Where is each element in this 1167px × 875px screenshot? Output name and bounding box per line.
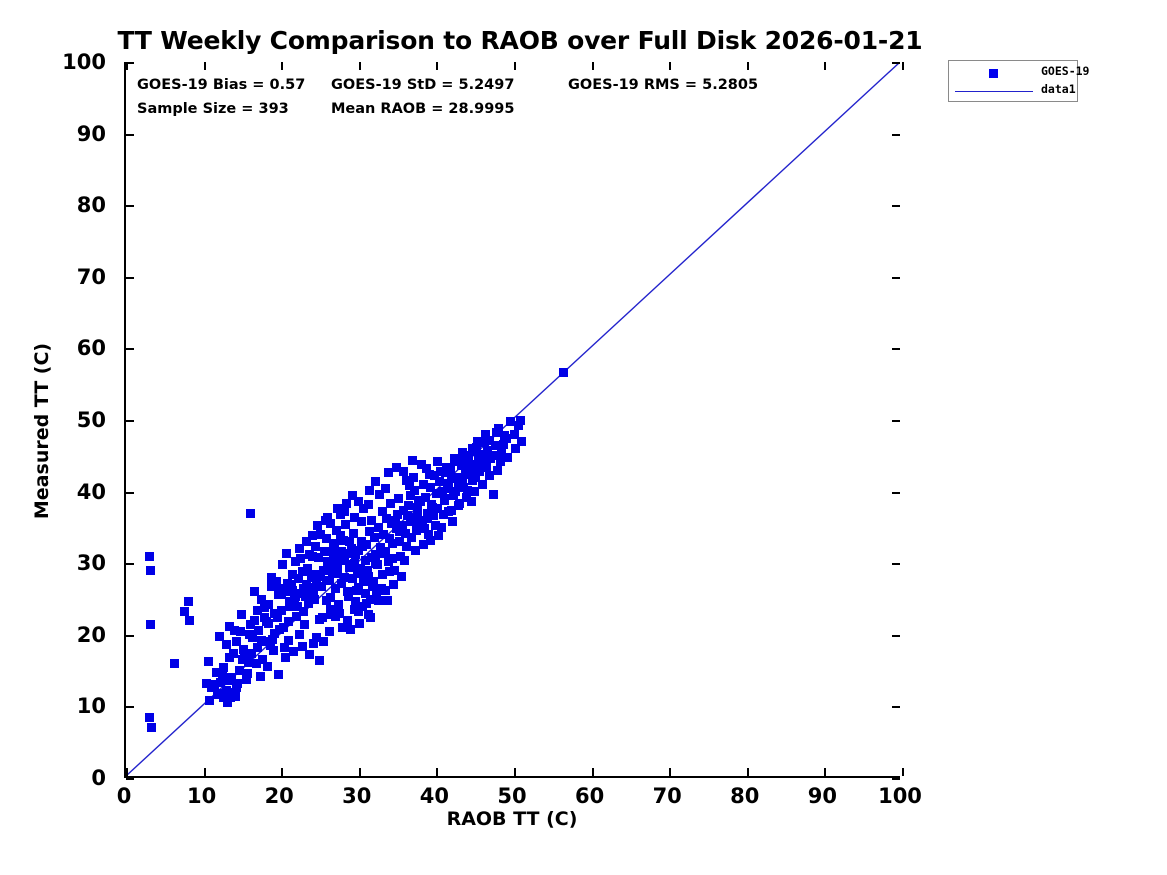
x-tick-label: 70 [653, 784, 682, 808]
data-point [267, 582, 276, 591]
data-point [385, 567, 394, 576]
y-tick-label: 80 [77, 193, 116, 217]
chart-figure: TT Weekly Comparison to RAOB over Full D… [0, 0, 1167, 875]
y-tick [126, 635, 134, 637]
data-point [274, 670, 283, 679]
data-point [333, 569, 342, 578]
data-point [184, 597, 193, 606]
data-point [263, 662, 272, 671]
data-point [295, 630, 304, 639]
x-tick-top [359, 62, 361, 70]
x-tick [669, 768, 671, 776]
data-point [280, 643, 289, 652]
data-point [277, 606, 286, 615]
x-tick-label: 50 [497, 784, 526, 808]
data-point [225, 653, 234, 662]
y-axis-tick-labels: 0102030405060708090100 [0, 62, 116, 778]
legend-entry-goes19[interactable]: GOES-19 [949, 64, 1077, 82]
data-point [403, 511, 412, 520]
data-point [290, 593, 299, 602]
data-point [345, 537, 354, 546]
data-point [493, 466, 502, 475]
data-point [231, 692, 240, 701]
data-point [431, 521, 440, 530]
data-point [464, 458, 473, 467]
x-tick [514, 768, 516, 776]
x-tick-label: 10 [187, 784, 216, 808]
data-point [287, 580, 296, 589]
y-tick-label: 60 [77, 336, 116, 360]
data-point [311, 542, 320, 551]
x-tick-label: 40 [420, 784, 449, 808]
x-tick-top [281, 62, 283, 70]
legend-entry-data1[interactable]: data1 [949, 82, 1077, 100]
data-point [337, 547, 346, 556]
data-point [381, 484, 390, 493]
x-tick [359, 768, 361, 776]
y-tick [126, 563, 134, 565]
data-point [282, 549, 291, 558]
chart-legend[interactable]: GOES-19 data1 [948, 60, 1078, 102]
data-point [170, 659, 179, 668]
data-point [147, 723, 156, 732]
data-point [293, 602, 302, 611]
data-point [319, 637, 328, 646]
data-point [232, 637, 241, 646]
data-point [257, 636, 266, 645]
data-point [318, 613, 327, 622]
data-point [308, 552, 317, 561]
x-tick [592, 768, 594, 776]
data-point [425, 470, 434, 479]
x-tick-top [514, 62, 516, 70]
legend-line-marker-icon [955, 91, 1033, 92]
data-point [256, 672, 265, 681]
x-tick-top [436, 62, 438, 70]
legend-label-data1: data1 [1041, 82, 1076, 96]
data-point [364, 610, 373, 619]
data-point [367, 516, 376, 525]
x-tick-top [669, 62, 671, 70]
data-point [309, 639, 318, 648]
data-point [383, 596, 392, 605]
data-point [413, 509, 422, 518]
data-point [503, 453, 512, 462]
x-tick-top [824, 62, 826, 70]
data-point [394, 494, 403, 503]
data-point [420, 524, 429, 533]
y-tick [126, 134, 134, 136]
data-point [352, 586, 361, 595]
chart-title: TT Weekly Comparison to RAOB over Full D… [0, 26, 1040, 55]
y-tick-right [892, 62, 900, 64]
data-point [399, 467, 408, 476]
data-point [397, 572, 406, 581]
data-point [145, 713, 154, 722]
y-tick [126, 205, 134, 207]
y-tick [126, 492, 134, 494]
data-point [245, 630, 254, 639]
data-point [417, 460, 426, 469]
data-point [388, 554, 397, 563]
data-point [323, 513, 332, 522]
data-point [350, 513, 359, 522]
data-point [409, 473, 418, 482]
data-point [289, 647, 298, 656]
data-point [305, 650, 314, 659]
y-tick-right [892, 563, 900, 565]
data-point [395, 527, 404, 536]
data-point [325, 627, 334, 636]
data-point [298, 567, 307, 576]
data-point [489, 490, 498, 499]
data-point [218, 672, 227, 681]
y-tick [126, 706, 134, 708]
data-point [451, 487, 460, 496]
data-point [434, 531, 443, 540]
y-tick-label: 70 [77, 265, 116, 289]
data-point [307, 573, 316, 582]
y-tick-right [892, 134, 900, 136]
plot-area [124, 62, 900, 778]
data-point [440, 494, 449, 503]
data-point [354, 607, 363, 616]
y-tick-label: 10 [77, 694, 116, 718]
data-point [246, 509, 255, 518]
data-point [331, 612, 340, 621]
data-point [428, 503, 437, 512]
data-point [329, 559, 338, 568]
y-tick-right [892, 348, 900, 350]
x-tick [436, 768, 438, 776]
data-point [278, 560, 287, 569]
y-tick-label: 20 [77, 623, 116, 647]
x-tick-top [902, 62, 904, 70]
y-tick-right [892, 635, 900, 637]
data-point [300, 620, 309, 629]
y-tick-label: 30 [77, 551, 116, 575]
data-point [269, 646, 278, 655]
data-point [454, 501, 463, 510]
x-tick-label: 60 [575, 784, 604, 808]
data-point [146, 620, 155, 629]
data-point [482, 450, 491, 459]
data-point [243, 669, 252, 678]
y-tick-label: 40 [77, 480, 116, 504]
data-point [400, 556, 409, 565]
data-point [185, 616, 194, 625]
data-point [333, 504, 342, 513]
data-point [145, 552, 154, 561]
legend-label-goes19: GOES-19 [1041, 64, 1089, 78]
data-point [378, 507, 387, 516]
data-point [253, 606, 262, 615]
x-tick-top [204, 62, 206, 70]
data-point [442, 463, 451, 472]
data-point [370, 533, 379, 542]
data-point [146, 566, 155, 575]
data-point [414, 496, 423, 505]
x-tick [824, 768, 826, 776]
y-tick [126, 348, 134, 350]
data-point [517, 437, 526, 446]
data-point [459, 483, 468, 492]
y-tick-right [892, 778, 900, 780]
data-point [351, 550, 360, 559]
data-point [496, 457, 505, 466]
data-point [492, 428, 501, 437]
data-point [391, 516, 400, 525]
y-tick [126, 277, 134, 279]
y-tick-right [892, 492, 900, 494]
data-point [456, 474, 465, 483]
data-point [481, 430, 490, 439]
data-point [347, 560, 356, 569]
data-point [362, 599, 371, 608]
x-tick-label: 80 [730, 784, 759, 808]
y-tick-right [892, 277, 900, 279]
data-point [479, 461, 488, 470]
data-point [372, 590, 381, 599]
y-tick-label: 100 [62, 50, 116, 74]
data-point [322, 576, 331, 585]
data-point [315, 656, 324, 665]
x-tick [126, 768, 128, 776]
x-tick [281, 768, 283, 776]
legend-square-marker-icon [989, 69, 998, 78]
y-tick [126, 778, 134, 780]
x-tick-label: 100 [878, 784, 922, 808]
data-point [355, 619, 364, 628]
data-point [448, 517, 457, 526]
data-point [346, 625, 355, 634]
y-tick-right [892, 205, 900, 207]
data-point [342, 499, 351, 508]
data-point [458, 448, 467, 457]
data-point [204, 657, 213, 666]
data-point [384, 468, 393, 477]
x-tick [204, 768, 206, 776]
data-point [559, 368, 568, 377]
data-point [299, 584, 308, 593]
y-tick-label: 50 [77, 408, 116, 432]
data-point [408, 456, 417, 465]
x-tick [902, 768, 904, 776]
data-point [260, 613, 269, 622]
data-point [237, 610, 246, 619]
y-tick-right [892, 420, 900, 422]
data-point [302, 537, 311, 546]
data-point [433, 457, 442, 466]
data-point [389, 580, 398, 589]
data-point [276, 584, 285, 593]
data-point [359, 504, 368, 513]
data-point [205, 696, 214, 705]
data-point [365, 486, 374, 495]
x-axis-title: RAOB TT (C) [124, 808, 900, 830]
y-axis-title: Measured TT (C) [31, 321, 53, 541]
plot-canvas [126, 62, 900, 776]
x-tick-top [592, 62, 594, 70]
x-tick-label: 90 [808, 784, 837, 808]
data-point [371, 559, 380, 568]
y-tick-right [892, 706, 900, 708]
data-point [309, 587, 318, 596]
x-tick [747, 768, 749, 776]
data-point [467, 497, 476, 506]
y-tick-label: 0 [91, 766, 116, 790]
x-tick-label: 30 [342, 784, 371, 808]
data-point [291, 557, 300, 566]
data-point [510, 430, 519, 439]
data-point [516, 416, 525, 425]
x-tick-label: 0 [117, 784, 132, 808]
x-tick-label: 20 [265, 784, 294, 808]
y-tick [126, 62, 134, 64]
x-tick-top [747, 62, 749, 70]
data-point [465, 468, 474, 477]
y-tick [126, 420, 134, 422]
y-tick-label: 90 [77, 122, 116, 146]
data-point [225, 622, 234, 631]
